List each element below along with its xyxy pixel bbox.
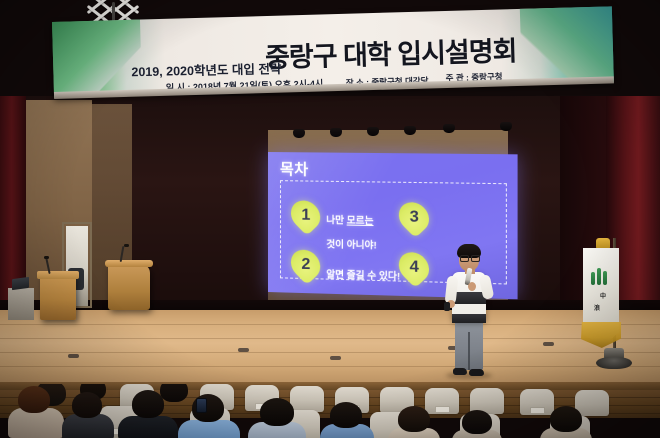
audience-shoulders (178, 420, 240, 438)
slide-item-1-line2: 것이 아니야! (326, 240, 376, 252)
slide-item-1-underlined: 모르는 (347, 216, 374, 228)
slide-item-text-1: 나만 모르는 것이 아니야! (326, 203, 376, 253)
slide-item-text-2: 알면 즐길 수 있다! (326, 257, 400, 284)
stage-light (404, 126, 416, 135)
presentation-clicker (444, 302, 450, 311)
audience-head (72, 392, 102, 418)
floor-outlet (543, 342, 554, 346)
stage-light (367, 127, 379, 136)
slide-item-number-3: 3 (409, 208, 418, 227)
main-lectern-top (105, 260, 153, 267)
glasses-icon-left-lens (460, 255, 469, 262)
slide-item-number-1: 1 (301, 206, 310, 224)
glasses-icon-right-lens (471, 255, 480, 262)
main-lectern (108, 264, 150, 310)
side-podium (40, 275, 76, 320)
audience-head (550, 406, 582, 432)
podium-microphone-head (44, 256, 49, 259)
flag-emblem-text-lower: 浪 (594, 303, 600, 312)
audience-head (160, 384, 188, 402)
audience-shoulders (118, 416, 178, 438)
floor-outlet (238, 348, 249, 352)
slide-title: 목차 (280, 158, 309, 179)
stage-light (330, 128, 342, 137)
speaker-shirt-stripe-upper (452, 292, 486, 304)
seat-number-tag (435, 406, 450, 413)
speaker-shoe-right (469, 369, 484, 376)
audience-head (18, 386, 50, 413)
speaker-leg-seam (468, 332, 470, 370)
stage-light (443, 124, 455, 133)
flag-emblem-text-upper: 中 (600, 291, 606, 300)
speaker-shirt-stripe-lower (452, 314, 486, 323)
audience-head (132, 390, 164, 418)
lectern-microphone-head (124, 244, 129, 247)
banner-left-accent (52, 20, 142, 98)
banner-main-title: 중랑구 대학 입시설명회 (264, 29, 516, 75)
audience-phone (196, 398, 207, 413)
stage-light (500, 122, 512, 131)
audience-head (398, 406, 430, 432)
audience-head (330, 402, 362, 428)
flag-stand-base (596, 357, 632, 369)
slide-item-number-4: 4 (409, 258, 418, 277)
banner-subtitle: 2019, 2020학년도 대입 전략 (131, 58, 281, 80)
seat-number-tag (530, 407, 545, 414)
audience-head (462, 410, 492, 434)
audience-head (260, 398, 294, 426)
slide-item-number-2: 2 (301, 255, 310, 273)
floor-outlet (330, 356, 341, 360)
speaker-shoe-left (453, 368, 467, 375)
slide-item-2-line1: 알면 즐길 수 있다! (326, 270, 400, 283)
event-banner: 중랑구 대학 입시설명회 2019, 2020학년도 대입 전략 일 시 : 2… (52, 6, 614, 104)
slide-item-1-line1: 나만 (326, 215, 346, 226)
side-podium-top (37, 271, 79, 279)
audience-area (0, 384, 660, 438)
banner-right-accent (520, 6, 614, 85)
operator-table (8, 288, 34, 320)
auditorium-photo: 중랑구 대학 입시설명회 2019, 2020학년도 대입 전략 일 시 : 2… (0, 0, 660, 438)
floor-outlet (68, 354, 79, 358)
flag-emblem-icon (591, 268, 609, 290)
speaker-hand-right (468, 282, 476, 291)
stage-floor (0, 310, 660, 384)
stage-light (293, 129, 305, 138)
seat (290, 386, 324, 412)
